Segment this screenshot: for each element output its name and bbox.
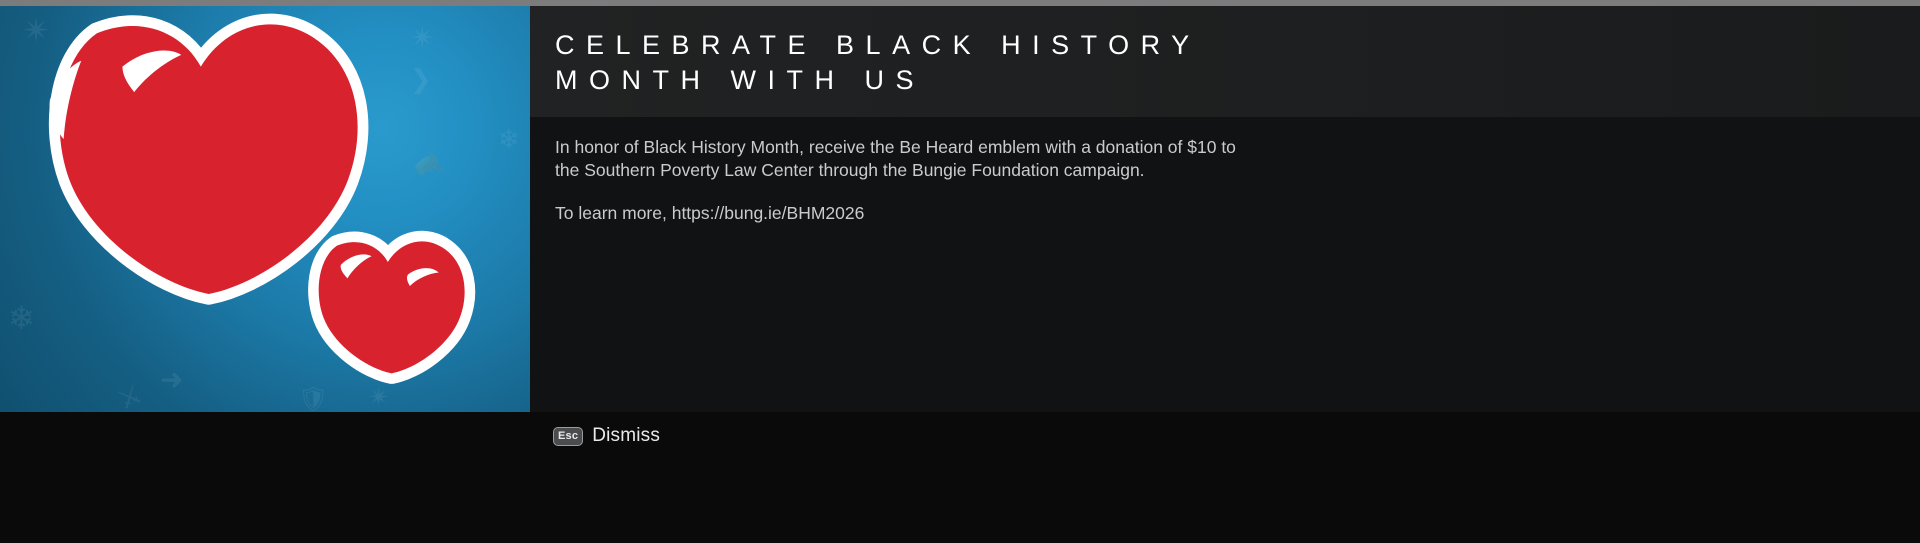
small-heart-shape <box>319 241 465 373</box>
dismiss-label: Dismiss <box>592 425 660 447</box>
hearts-illustration <box>0 6 530 412</box>
body-paragraph-1: In honor of Black History Month, receive… <box>555 136 1255 181</box>
dismiss-button[interactable]: Esc Dismiss <box>553 425 660 447</box>
large-heart-shape <box>50 24 358 294</box>
body-paragraph-2: To learn more, https://bung.ie/BHM2026 <box>555 202 1255 225</box>
footer-bar: Esc Dismiss <box>0 412 1920 543</box>
page-title: CELEBRATE BLACK HISTORY MONTH WITH US <box>555 28 1895 98</box>
artwork-panel: ✴ ❯ 🔫 ➜ ❄ ⚔ ❯ ✴ 🔫 ▲ ❄ 🛡 ❯ ✴ ⚔ 💧 <box>0 6 530 412</box>
esc-key-icon: Esc <box>553 427 583 446</box>
notification-body: In honor of Black History Month, receive… <box>555 136 1255 225</box>
notification-content: CELEBRATE BLACK HISTORY MONTH WITH US In… <box>530 6 1920 412</box>
notification-overlay: ✴ ❯ 🔫 ➜ ❄ ⚔ ❯ ✴ 🔫 ▲ ❄ 🛡 ❯ ✴ ⚔ 💧 <box>0 0 1920 543</box>
